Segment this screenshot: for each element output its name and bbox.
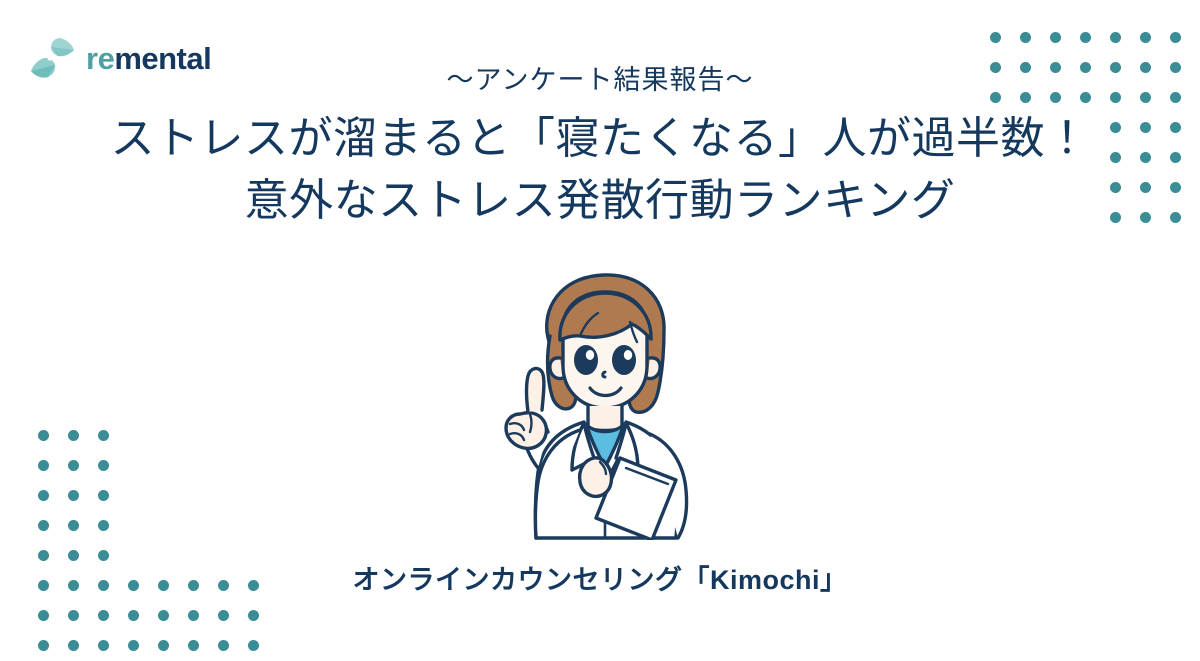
eyebrow-text: 〜アンケート結果報告〜 bbox=[0, 58, 1200, 97]
decorative-dot bbox=[68, 490, 79, 501]
headline-line-1: ストレスが溜まると「寝たくなる」人が過半数！ bbox=[0, 108, 1200, 170]
decorative-dot bbox=[1020, 32, 1031, 43]
dot-grid-row bbox=[28, 480, 268, 510]
decorative-dot bbox=[68, 460, 79, 471]
decorative-dot bbox=[38, 430, 49, 441]
decorative-dot-blank bbox=[158, 520, 169, 531]
decorative-dot bbox=[128, 610, 139, 621]
decorative-dot bbox=[68, 610, 79, 621]
decorative-dot-blank bbox=[218, 430, 229, 441]
decorative-dot bbox=[98, 460, 109, 471]
decorative-dot bbox=[38, 490, 49, 501]
decorative-dot bbox=[158, 610, 169, 621]
decorative-dot-blank bbox=[218, 490, 229, 501]
decorative-dot bbox=[1110, 32, 1121, 43]
decorative-dot bbox=[98, 490, 109, 501]
decorative-dot bbox=[38, 610, 49, 621]
decorative-dot-blank bbox=[218, 520, 229, 531]
decorative-dot bbox=[1170, 32, 1181, 43]
decorative-dot bbox=[98, 640, 109, 651]
decorative-dot bbox=[188, 640, 199, 651]
decorative-dot-blank bbox=[248, 490, 259, 501]
dot-grid-row bbox=[28, 630, 268, 660]
decorative-dot-blank bbox=[188, 490, 199, 501]
decorative-dot-blank bbox=[128, 460, 139, 471]
decorative-dot-blank bbox=[158, 430, 169, 441]
decorative-dot bbox=[1080, 32, 1091, 43]
dot-grid-row bbox=[28, 600, 268, 630]
decorative-dot-blank bbox=[128, 520, 139, 531]
female-counselor-pointing-up-illustration bbox=[480, 262, 730, 540]
decorative-dot-blank bbox=[248, 430, 259, 441]
decorative-dot bbox=[128, 640, 139, 651]
dot-grid-row bbox=[980, 22, 1190, 52]
decorative-dot-blank bbox=[248, 460, 259, 471]
decorative-dot bbox=[188, 610, 199, 621]
page-title: ストレスが溜まると「寝たくなる」人が過半数！ 意外なストレス発散行動ランキング bbox=[0, 108, 1200, 233]
decorative-dot bbox=[248, 640, 259, 651]
decorative-dot-blank bbox=[248, 520, 259, 531]
decorative-dot-blank bbox=[218, 460, 229, 471]
headline-line-2: 意外なストレス発散行動ランキング bbox=[0, 170, 1200, 232]
decorative-dot bbox=[990, 32, 1001, 43]
decorative-dot bbox=[248, 610, 259, 621]
decorative-dot-blank bbox=[188, 430, 199, 441]
dot-grid-row bbox=[28, 420, 268, 450]
decorative-dot bbox=[68, 520, 79, 531]
decorative-dot-blank bbox=[128, 430, 139, 441]
decorative-dot bbox=[1140, 32, 1151, 43]
decorative-dot bbox=[218, 640, 229, 651]
slide-canvas: remental 〜アンケート結果報告〜 ストレスが溜まると「寝たくなる」人が過… bbox=[0, 0, 1200, 661]
decorative-dot bbox=[38, 460, 49, 471]
service-caption: オンラインカウンセリング「Kimochi」 bbox=[0, 558, 1200, 597]
decorative-dot bbox=[98, 430, 109, 441]
decorative-dot bbox=[38, 520, 49, 531]
decorative-dot bbox=[1050, 32, 1061, 43]
decorative-dot bbox=[38, 640, 49, 651]
dot-grid-row bbox=[28, 510, 268, 540]
decorative-dot bbox=[158, 640, 169, 651]
decorative-dot-blank bbox=[128, 490, 139, 501]
decorative-dot bbox=[218, 610, 229, 621]
decorative-dot bbox=[98, 610, 109, 621]
decorative-dot-blank bbox=[188, 520, 199, 531]
decorative-dot-blank bbox=[158, 460, 169, 471]
decorative-dot bbox=[98, 520, 109, 531]
decorative-dot-blank bbox=[188, 460, 199, 471]
decorative-dot-blank bbox=[158, 490, 169, 501]
dot-grid-bottom-left bbox=[28, 420, 268, 660]
decorative-dot bbox=[68, 430, 79, 441]
dot-grid-row bbox=[28, 450, 268, 480]
decorative-dot bbox=[68, 640, 79, 651]
